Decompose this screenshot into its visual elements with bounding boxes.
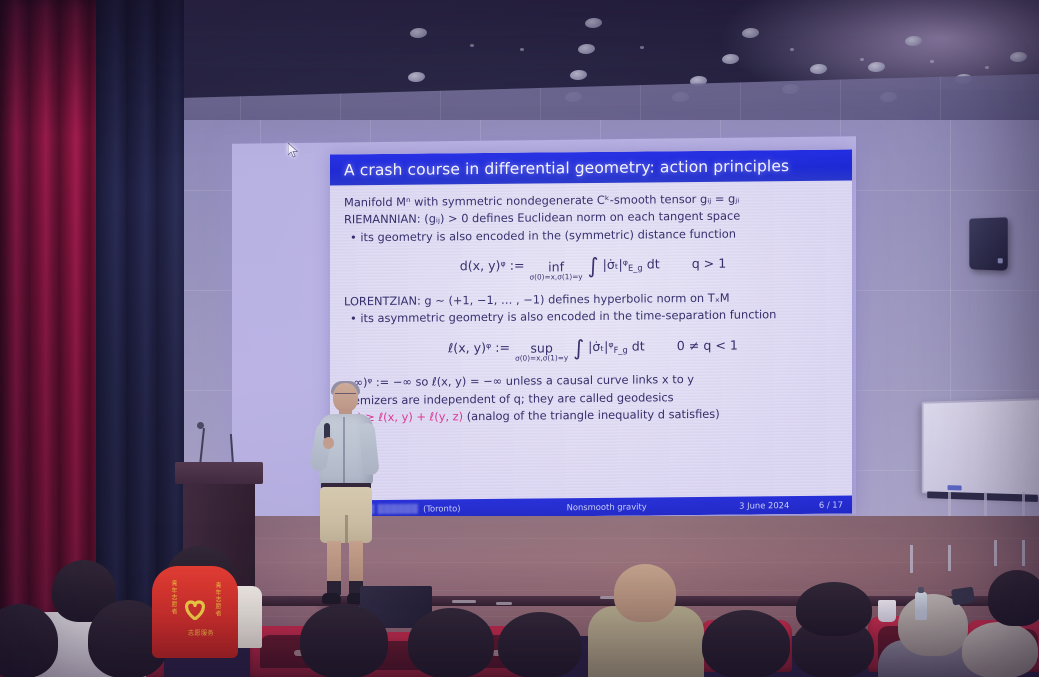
auditorium-scene: A crash course in differential geometry:… [0,0,1039,677]
footer-date: 3 June 2024 [685,500,789,511]
presenter-shirt-placket [343,417,345,483]
speaker-indicator [998,258,1003,263]
vest-text-bottom: 志愿服务 [188,630,214,637]
drink-cup [878,600,896,622]
glasses-icon [335,393,356,398]
ceiling-dot [520,48,524,51]
eq2-operator-subscript: σ(0)=x,σ(1)=y [515,355,568,363]
ceiling-light [408,71,426,82]
slide-line-triangle-inequality: , z) ≥ ℓ(x, y) + ℓ(y, z) (analog of the … [344,405,842,427]
audience-head [796,582,872,636]
ceiling-dot [640,46,644,49]
audience-head [988,570,1039,626]
slide-bullet-lorentzian: its asymmetric geometry is also encoded … [344,306,842,328]
audience-head [498,612,582,677]
eq1-integrand-subscript: E_g [628,263,643,273]
presenter-hand [323,437,334,449]
footer-page-number: 6 / 17 [789,499,852,510]
wall-speaker [969,217,1007,270]
lectern-top [175,462,263,484]
ceiling-light [578,43,596,54]
ceiling-dot [470,44,474,47]
eq2-integrand: |σ̇ₜ|ᵠ [588,338,613,353]
presenter-shorts-seam [345,515,348,543]
eq2-condition: 0 ≠ q < 1 [677,337,738,353]
audience-head [962,622,1038,677]
eq2-supremum: sup σ(0)=x,σ(1)=y [515,343,568,363]
eq1-differential: dt [647,256,660,271]
bottle-cap [918,587,924,593]
footer-affiliation: (Toronto) [423,503,460,513]
eq1-integrand: |σ̇ₜ|ᵠ [603,257,628,272]
ceiling-light [585,17,603,28]
ceiling-dot [985,66,989,69]
red-stage-curtain [0,0,106,620]
ceiling-dot [860,58,864,61]
vest-text-side: 青年志愿者 [214,582,221,617]
footer-talk-title: Nonsmooth gravity [528,501,685,513]
eq1-lhs: d(x, y)ᵠ := [460,258,525,274]
ceiling-dot [930,60,934,63]
volunteer-vest: 青年志愿者 青年志愿者 志愿服务 [152,566,238,658]
audience-head [614,564,676,622]
whiteboard-marker [947,485,961,490]
water-bottle [915,592,927,620]
eq1-condition: q > 1 [692,256,727,271]
eq2-integrand-subscript: F_g [614,344,628,354]
eq1-integral-sign: ∫ [588,251,599,283]
slide-title: A crash course in differential geometry:… [330,149,852,185]
audience-head [300,604,388,677]
ceiling-light [570,69,588,80]
slide-body: Manifold Mⁿ with symmetric nondegenerate… [330,180,852,500]
eq2-differential: dt [632,338,645,353]
vest-text-top: 青年志愿者 [170,580,177,615]
whiteboard [922,398,1039,497]
phone [951,587,975,606]
audience-area: 青年志愿者 青年志愿者 志愿服务 [0,556,1039,677]
ceiling-light [410,27,428,38]
triangle-inequality-note: (analog of the triangle inequality d sat… [467,407,720,423]
audience-head [702,610,790,677]
equation-riemannian-distance: d(x, y)ᵠ := inf σ(0)=x,σ(1)=y ∫ |σ̇ₜ|ᵠE_… [344,249,842,286]
heart-icon [182,598,208,620]
eq1-operator-subscript: σ(0)=x,σ(1)=y [530,273,583,281]
ceiling-dot [790,48,794,51]
eq2-lhs: ℓ(x, y)ᵠ := [448,339,510,355]
equation-lorentzian-time-separation: ℓ(x, y)ᵠ := sup σ(0)=x,σ(1)=y ∫ |σ̇ₜ|ᵠF_… [344,330,842,367]
eq2-integral-sign: ∫ [573,333,584,365]
dark-stage-curtain [96,0,184,640]
eq1-infimum: inf σ(0)=x,σ(1)=y [530,261,583,281]
presentation-slide: A crash course in differential geometry:… [330,149,852,518]
audience-head [408,608,494,677]
